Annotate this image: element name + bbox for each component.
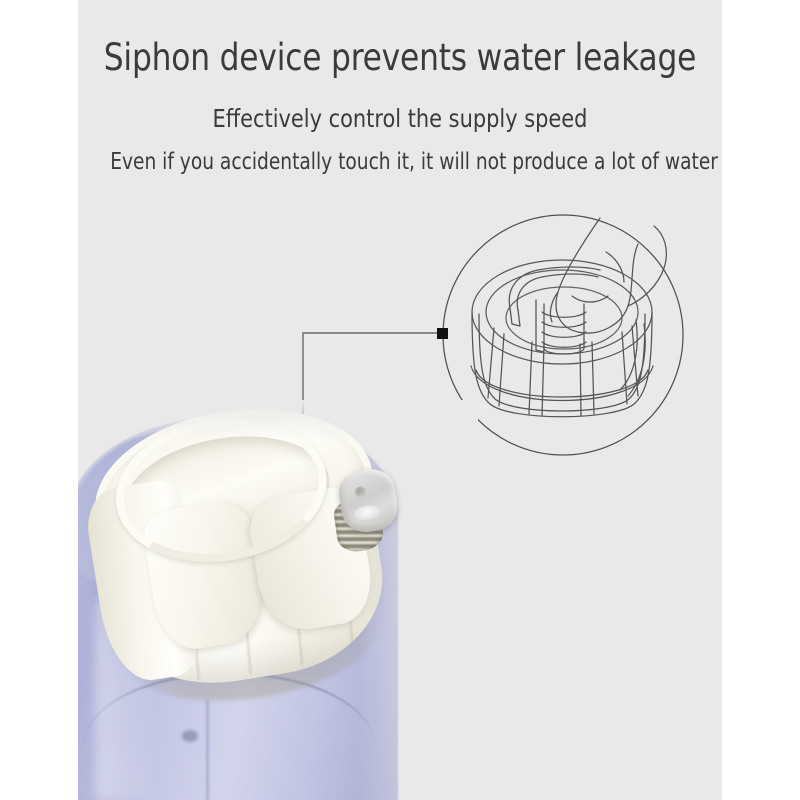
callout-marker-square: [437, 328, 448, 339]
product-photo: [78, 400, 478, 800]
subtitle: Effectively control the supply speed: [101, 104, 700, 134]
bottle-seam: [206, 700, 209, 800]
content-panel: Siphon device prevents water leakage Eff…: [78, 0, 722, 800]
product-feature-image: Siphon device prevents water leakage Eff…: [0, 0, 800, 800]
tagline: Even if you accidentally touch it, it wi…: [110, 148, 690, 176]
bottle-speck: [182, 730, 198, 742]
photo-right-fade: [358, 400, 478, 800]
page-title: Siphon device prevents water leakage: [97, 36, 702, 80]
siphon-valve-plug: [320, 465, 409, 561]
